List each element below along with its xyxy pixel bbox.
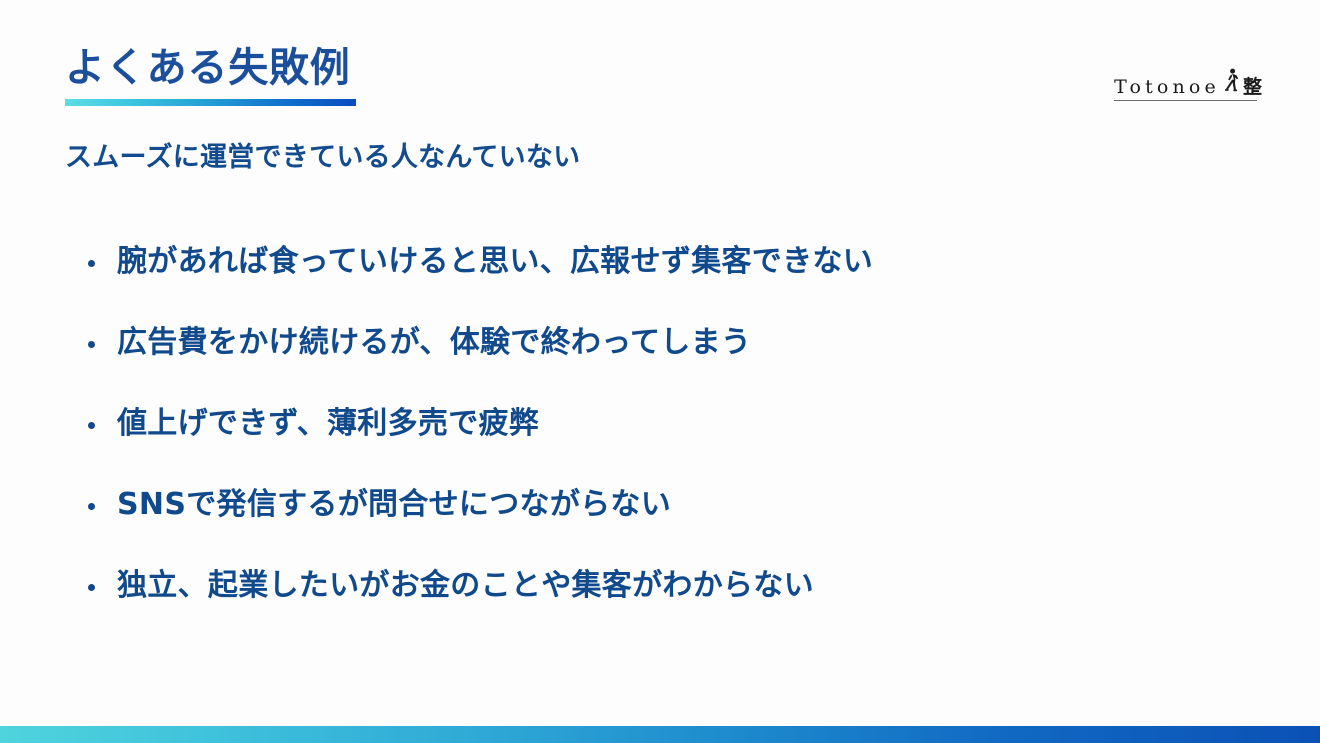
subtitle: スムーズに運営できている人なんていない <box>65 135 580 174</box>
bullet-marker-icon <box>88 584 95 591</box>
slide-canvas: よくある失敗例 スムーズに運営できている人なんていない Totonoe 整 <box>0 0 1320 743</box>
bottom-gradient-bar <box>0 726 1320 743</box>
list-item-label: 独立、起業したいがお金のことや集客がわからない <box>117 567 814 605</box>
logo-wordmark: Totonoe <box>1114 78 1220 97</box>
bullet-list: 腕があれば食っていけると思い、広報せず集客できない 広告費をかけ続けるが、体験で… <box>88 243 1208 648</box>
bullet-marker-icon <box>88 341 95 348</box>
title-underline-accent <box>65 99 356 106</box>
list-item-label: 値上げできず、薄利多売で疲弊 <box>117 405 539 443</box>
walking-person-icon <box>1223 68 1240 96</box>
bullet-marker-icon <box>88 503 95 510</box>
list-item: 広告費をかけ続けるが、体験で終わってしまう <box>88 324 1208 405</box>
page-title: よくある失敗例 <box>65 46 356 91</box>
list-item: 値上げできず、薄利多売で疲弊 <box>88 405 1208 486</box>
bullet-marker-icon <box>88 260 95 267</box>
list-item: 腕があれば食っていけると思い、広報せず集客できない <box>88 243 1208 324</box>
list-item-label: 腕があれば食っていけると思い、広報せず集客できない <box>117 243 873 281</box>
title-block: よくある失敗例 <box>65 46 356 106</box>
logo-row: Totonoe 整 <box>1114 68 1262 97</box>
bullet-marker-icon <box>88 422 95 429</box>
list-item: SNSで発信するが問合せにつながらない <box>88 486 1208 567</box>
list-item-label: SNSで発信するが問合せにつながらない <box>117 486 671 524</box>
logo-kanji: 整 <box>1243 78 1262 97</box>
logo-underline <box>1114 100 1257 101</box>
list-item: 独立、起業したいがお金のことや集客がわからない <box>88 567 1208 648</box>
list-item-label: 広告費をかけ続けるが、体験で終わってしまう <box>117 324 751 362</box>
totonoe-logo: Totonoe 整 <box>1114 68 1262 101</box>
